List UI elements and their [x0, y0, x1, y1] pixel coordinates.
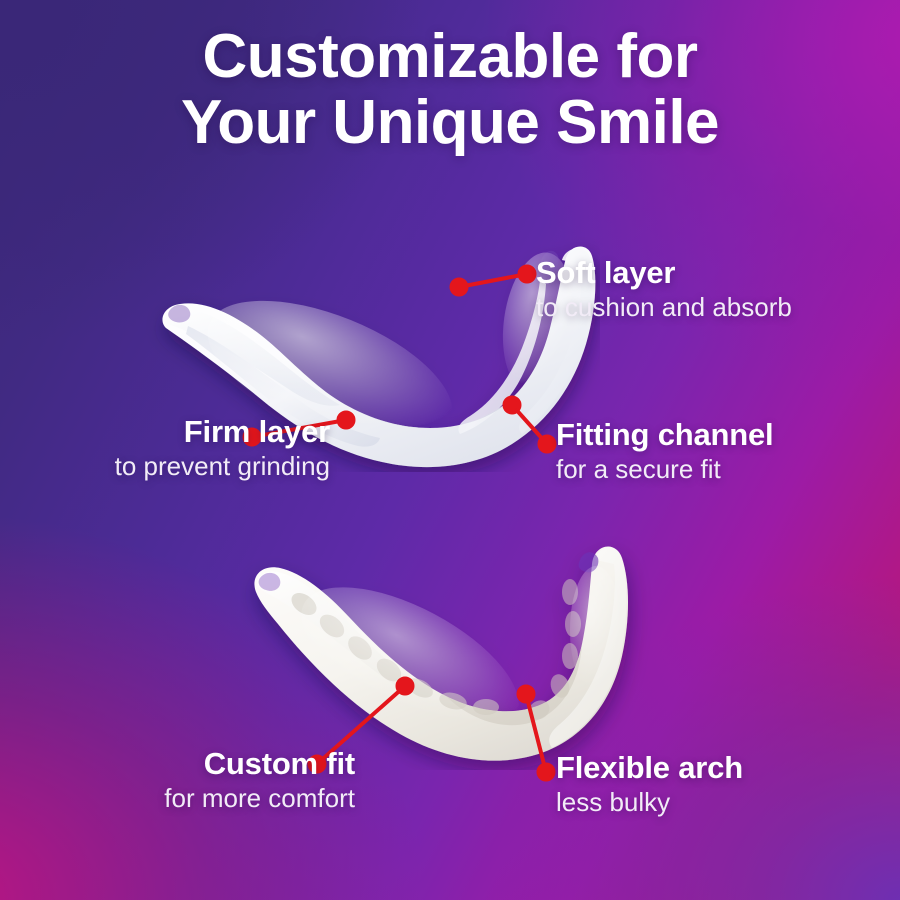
callout-soft-layer-subtitle: to cushion and absorb: [536, 293, 792, 322]
callout-firm-layer-subtitle: to prevent grinding: [20, 452, 330, 481]
custom-guard-body: [254, 547, 628, 763]
callout-soft-layer-title: Soft layer: [536, 257, 792, 290]
callout-custom-fit: Custom fit for more comfort: [110, 748, 355, 813]
title-line-2: Your Unique Smile: [0, 90, 900, 156]
callout-firm-layer: Firm layer to prevent grinding: [20, 416, 330, 481]
page-title: Customizable for Your Unique Smile: [0, 24, 900, 157]
callout-firm-layer-title: Firm layer: [20, 416, 330, 449]
callout-soft-layer: Soft layer to cushion and absorb: [536, 257, 792, 322]
callout-flexible-arch-subtitle: less bulky: [556, 788, 743, 817]
callout-custom-fit-subtitle: for more comfort: [110, 784, 355, 813]
callout-flexible-arch-title: Flexible arch: [556, 752, 743, 785]
callout-custom-fit-title: Custom fit: [110, 748, 355, 781]
product-infographic: Customizable for Your Unique Smile: [0, 0, 900, 900]
callout-fitting-channel: Fitting channel for a secure fit: [556, 419, 773, 484]
callout-flexible-arch: Flexible arch less bulky: [556, 752, 743, 817]
title-line-1: Customizable for: [0, 24, 900, 90]
callout-fitting-channel-subtitle: for a secure fit: [556, 455, 773, 484]
callout-fitting-channel-title: Fitting channel: [556, 419, 773, 452]
product-image-custom-guard: [240, 520, 670, 770]
